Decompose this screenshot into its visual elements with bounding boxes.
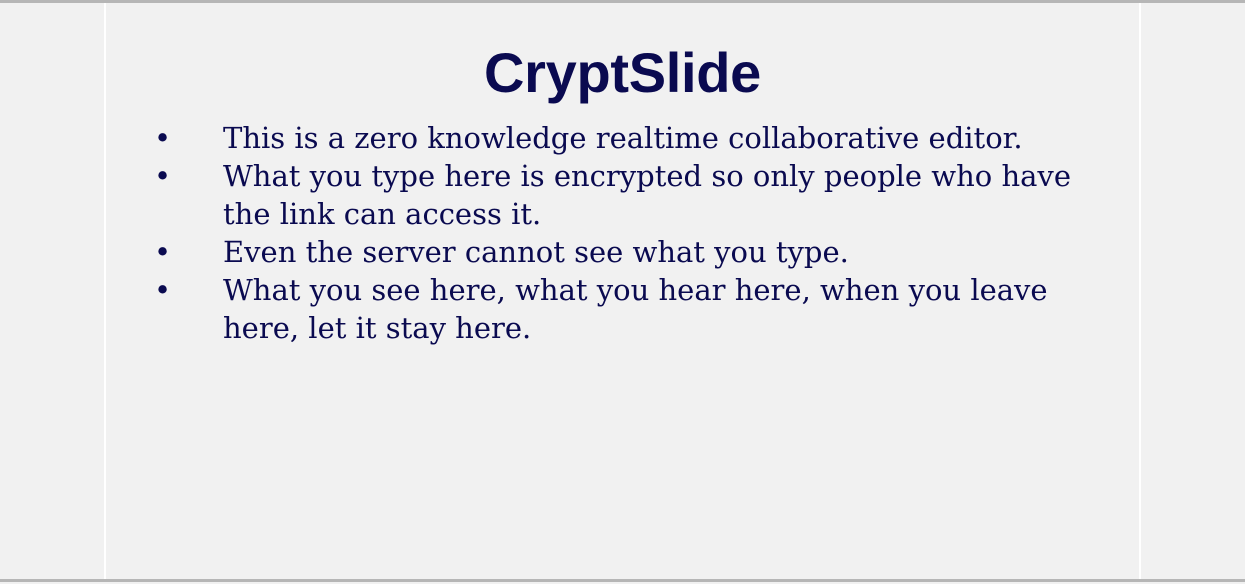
slide-viewport: CryptSlide • This is a zero knowledge re… bbox=[0, 0, 1245, 584]
bullet-point-icon: • bbox=[150, 233, 223, 271]
list-item[interactable]: • Even the server cannot see what you ty… bbox=[150, 233, 1102, 271]
list-item-text: Even the server cannot see what you type… bbox=[223, 233, 1102, 271]
list-item[interactable]: • This is a zero knowledge realtime coll… bbox=[150, 119, 1102, 157]
bullet-point-icon: • bbox=[150, 271, 223, 309]
bullet-point-icon: • bbox=[150, 119, 223, 157]
slide-frame[interactable]: CryptSlide • This is a zero knowledge re… bbox=[104, 3, 1141, 579]
list-item-text: What you see here, what you hear here, w… bbox=[223, 271, 1102, 347]
slide-bullet-list: • This is a zero knowledge realtime coll… bbox=[150, 119, 1102, 347]
list-item[interactable]: • What you see here, what you hear here,… bbox=[150, 271, 1102, 347]
list-item-text: This is a zero knowledge realtime collab… bbox=[223, 119, 1102, 157]
slide-content-area[interactable]: CryptSlide • This is a zero knowledge re… bbox=[106, 3, 1139, 579]
bullet-point-icon: • bbox=[150, 157, 223, 195]
list-item[interactable]: • What you type here is encrypted so onl… bbox=[150, 157, 1102, 233]
bottom-divider-rule bbox=[0, 579, 1245, 582]
list-item-text: What you type here is encrypted so only … bbox=[223, 157, 1102, 233]
slide-title: CryptSlide bbox=[106, 42, 1139, 104]
